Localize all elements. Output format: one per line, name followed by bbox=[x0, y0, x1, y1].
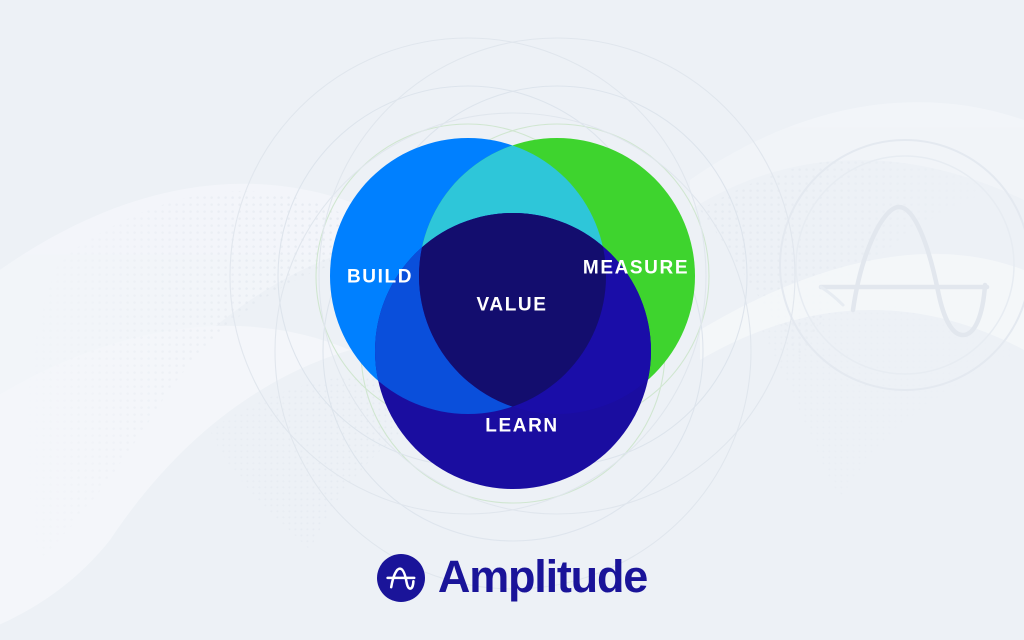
venn-label-measure: MEASURE bbox=[583, 259, 689, 278]
venn-label-build: BUILD bbox=[347, 268, 413, 287]
brand-lockup: Amplitude bbox=[0, 546, 1024, 610]
amplitude-logo-icon bbox=[377, 554, 425, 602]
infographic-canvas: BUILD MEASURE LEARN VALUE Amplitude bbox=[0, 0, 1024, 640]
venn-label-learn: LEARN bbox=[485, 417, 558, 436]
venn-label-value: VALUE bbox=[477, 296, 548, 315]
venn-diagram bbox=[0, 0, 1024, 640]
brand-name: Amplitude bbox=[438, 554, 647, 599]
